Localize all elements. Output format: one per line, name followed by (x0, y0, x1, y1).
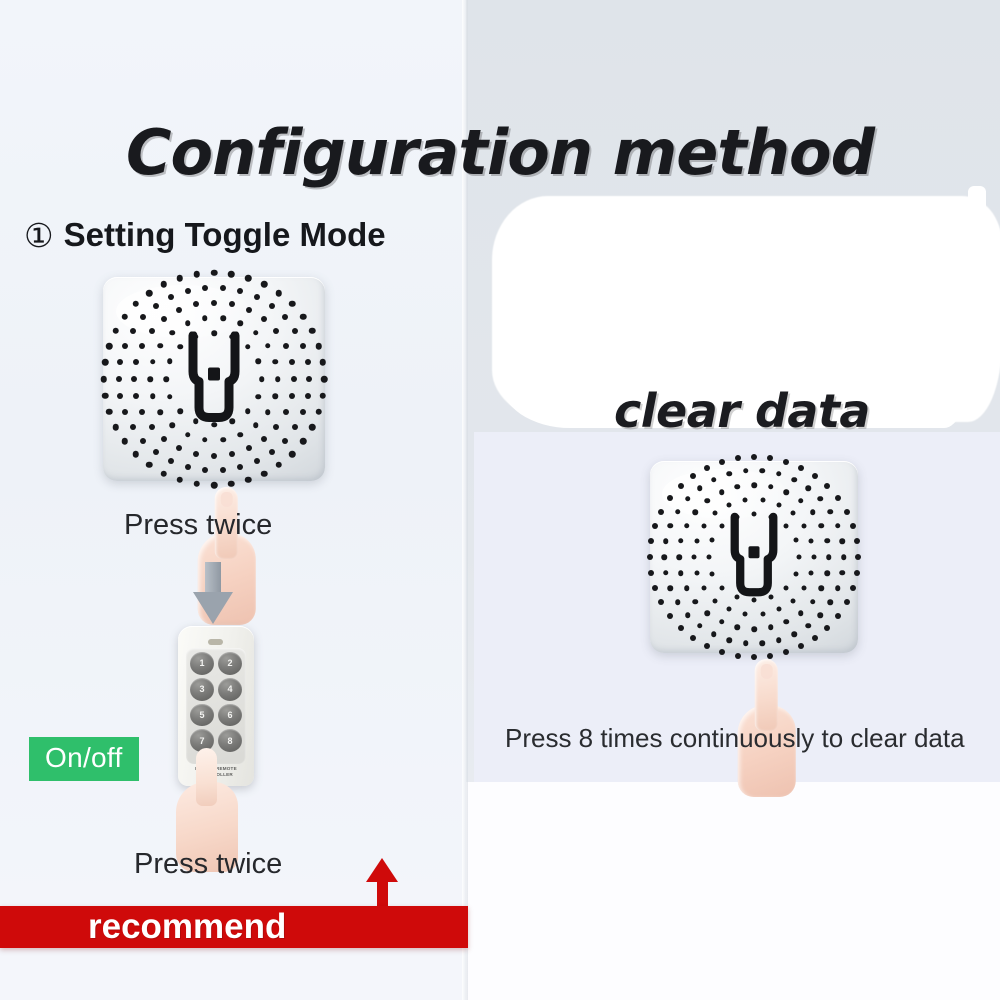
switch-perforation-dot (697, 485, 703, 491)
switch-perforation-dot (776, 502, 781, 507)
switch-perforation-dot (648, 570, 654, 576)
switch-perforation-dot (228, 481, 235, 488)
remote-key-5[interactable]: 5 (190, 704, 214, 727)
switch-perforation-dot (751, 654, 757, 660)
switch-perforation-dot (130, 328, 136, 334)
switch-perforation-dot (272, 393, 278, 399)
switch-perforation-dot (153, 303, 159, 309)
switch-perforation-dot (146, 462, 153, 469)
switch-perforation-dot (177, 477, 184, 484)
switch-perforation-dot (798, 611, 804, 617)
switch-perforation-dot (828, 509, 834, 515)
switch-perforation-dot (743, 612, 748, 617)
switch-perforation-dot (760, 640, 766, 646)
switch-perforation-dot (710, 571, 715, 576)
switch-perforation-dot (305, 359, 311, 365)
switch-perforation-dot (811, 555, 816, 560)
switch-perforation-dot (760, 497, 765, 502)
switch-perforation-dot (854, 538, 860, 544)
switch-perforation-dot (170, 423, 176, 429)
switch-perforation-dot (121, 438, 128, 445)
switch-perforation-dot (102, 359, 109, 366)
switch-perforation-dot (158, 409, 164, 415)
switch-perforation-dot (844, 599, 850, 605)
arrow-up-icon (366, 858, 398, 908)
switch-perforation-dot (692, 555, 697, 560)
switch-perforation-dot (694, 538, 699, 543)
switch-perforation-dot (122, 343, 128, 349)
switch-perforation-dot (675, 509, 681, 515)
switch-perforation-dot (658, 509, 664, 515)
switch-perforation-dot (701, 586, 706, 591)
switch-perforation-dot (841, 554, 847, 560)
switch-perforation-dot (220, 285, 226, 291)
switch-perforation-dot (305, 393, 311, 399)
switch-perforation-dot (273, 424, 279, 430)
switch-perforation-dot (130, 424, 136, 430)
switch-perforation-dot (149, 328, 155, 334)
switch-perforation-dot (840, 570, 846, 576)
switch-perforation-dot (684, 585, 690, 591)
switch-perforation-dot (824, 483, 830, 489)
switch-perforation-dot (265, 409, 271, 415)
switch-perforation-dot (824, 570, 830, 576)
switch-perforation-dot (211, 453, 217, 459)
switch-perforation-dot (719, 489, 725, 495)
remote-key-grid: 1 2 3 4 5 6 7 8 (190, 652, 242, 752)
switch-perforation-dot (220, 316, 226, 322)
switch-perforation-dot (106, 409, 113, 416)
switch-perforation-dot (185, 464, 191, 470)
switch-perforation-dot (685, 612, 691, 618)
switch-perforation-dot (719, 619, 725, 625)
switch-perforation-dot (652, 523, 658, 529)
switch-perforation-dot (272, 359, 278, 365)
switch-perforation-dot (259, 376, 265, 382)
hand-index-finger (196, 748, 217, 806)
switch-perforation-dot (802, 523, 807, 528)
switch-perforation-dot (289, 301, 296, 308)
switch-perforation-dot (743, 497, 748, 502)
arrow-down-icon (193, 562, 233, 624)
switch-perforation-dot (809, 571, 814, 576)
switch-perforation-dot (211, 300, 217, 306)
switch-perforation-dot (710, 538, 715, 543)
switch-perforation-dot (648, 538, 654, 544)
switch-perforation-dot (802, 586, 807, 591)
remote-key-1[interactable]: 1 (190, 652, 214, 675)
switch-perforation-dot (667, 585, 673, 591)
switch-perforation-dot (309, 328, 316, 335)
switch-perforation-dot (684, 523, 690, 529)
switch-perforation-dot (246, 307, 252, 313)
switch-perforation-dot (229, 451, 235, 457)
switch-perforation-dot (193, 451, 199, 457)
switch-perforation-dot (269, 303, 275, 309)
switch-perforation-dot (167, 359, 173, 365)
switch-perforation-dot (652, 585, 658, 591)
switch-perforation-dot (150, 393, 156, 399)
switch-perforation-dot (783, 459, 789, 465)
switch-perforation-dot (658, 599, 664, 605)
switch-perforation-dot (237, 288, 243, 294)
switch-perforation-dot (735, 624, 741, 630)
switch-perforation-dot (743, 640, 749, 646)
switch-perforation-dot (850, 585, 856, 591)
switch-perforation-dot (791, 598, 796, 603)
switch-perforation-dot (667, 495, 673, 501)
hand-fingernail (761, 664, 773, 679)
switch-perforation-dot (161, 281, 168, 288)
switch-perforation-dot (220, 467, 226, 473)
switch-perforation-dot (228, 271, 235, 278)
switch-perforation-dot (321, 376, 328, 383)
switch-perforation-dot (693, 509, 699, 515)
switch-perforation-dot (707, 555, 712, 560)
switch-perforation-dot (796, 555, 801, 560)
switch-perforation-dot (705, 498, 711, 504)
switch-perforation-dot (309, 424, 316, 431)
switch-perforation-dot (316, 409, 323, 416)
switch-perforation-dot (158, 343, 164, 349)
switch-perforation-dot (791, 477, 797, 483)
switch-perforation-dot (784, 619, 790, 625)
switch-perforation-dot (283, 409, 289, 415)
switch-perforation-dot (229, 301, 235, 307)
switch-perforation-dot (283, 343, 289, 349)
switch-perforation-dot (854, 570, 860, 576)
switch-perforation-dot (678, 625, 684, 631)
switch-perforation-dot (798, 465, 804, 471)
switch-perforation-dot (261, 316, 267, 322)
switch-perforation-dot (694, 571, 699, 576)
remote-led-indicator (208, 639, 223, 645)
switch-perforation-dot (776, 637, 782, 643)
switch-perforation-dot (719, 649, 725, 655)
switch-perforation-dot (185, 432, 191, 438)
switch-perforation-dot (705, 611, 711, 617)
switch-perforation-dot (819, 585, 825, 591)
switch-perforation-dot (663, 570, 669, 576)
switch-perforation-dot (768, 484, 774, 490)
switch-perforation-dot (276, 290, 283, 297)
switch-perforation-dot (768, 624, 774, 630)
switch-perforation-dot (133, 393, 139, 399)
switch-perforation-dot (798, 498, 804, 504)
switch-perforation-dot (100, 376, 107, 383)
switch-perforation-dot (282, 314, 288, 320)
page-title: Configuration method (0, 116, 1000, 189)
remote-key-2[interactable]: 2 (218, 652, 242, 675)
switch-perforation-dot (202, 467, 208, 473)
switch-perforation-dot (161, 470, 168, 477)
switch-perforation-dot (291, 376, 297, 382)
remote-key-3[interactable]: 3 (190, 678, 214, 701)
switch-perforation-dot (751, 482, 757, 488)
switch-perforation-dot (824, 625, 830, 631)
switch-perforation-dot (112, 328, 119, 335)
switch-perforation-dot (140, 438, 146, 444)
switch-perforation-dot (320, 359, 327, 366)
switch-perforation-dot (712, 511, 717, 516)
switch-perforation-dot (261, 470, 268, 477)
switch-perforation-dot (245, 477, 252, 484)
switch-perforation-dot (850, 523, 856, 529)
switch-perforation-dot (149, 424, 155, 430)
switch-perforation-dot (168, 458, 174, 464)
switch-perforation-dot (153, 449, 159, 455)
switch-perforation-dot (727, 471, 733, 477)
switch-perforation-dot (261, 436, 267, 442)
switch-perforation-dot (300, 438, 307, 445)
switch-perforation-dot (245, 275, 252, 282)
switch-perforation-dot (133, 301, 140, 308)
caption-clear-data: Press 8 times continuously to clear data (505, 723, 965, 754)
switch-perforation-dot (282, 438, 288, 444)
switch-perforation-dot (116, 376, 122, 382)
switch-perforation-dot (320, 392, 327, 399)
switch-perforation-dot (812, 473, 818, 479)
switch-perforation-dot (253, 423, 259, 429)
switch-perforation-dot (161, 436, 167, 442)
switch-perforation-dot (122, 409, 128, 415)
switch-perforation-dot (306, 376, 312, 382)
switch-perforation-dot (148, 376, 154, 382)
switch-perforation-dot (697, 623, 703, 629)
switch-perforation-dot (711, 477, 717, 483)
infographic-canvas: Configuration method ① Setting Toggle Mo… (0, 0, 1000, 1000)
switch-perforation-dot (238, 432, 244, 438)
switch-perforation-dot (727, 607, 732, 612)
switch-perforation-dot (793, 571, 798, 576)
switch-perforation-dot (791, 511, 796, 516)
switch-perforation-dot (751, 454, 757, 460)
switch-perforation-dot (106, 343, 113, 350)
step-heading-label: Setting Toggle Mode (64, 216, 386, 254)
switch-perforation-dot (202, 285, 208, 291)
switch-perforation-dot (735, 653, 741, 659)
switch-perforation-dot (193, 301, 199, 307)
switch-perforation-dot (300, 409, 306, 415)
switch-perforation-dot (675, 600, 681, 606)
hand-pointing-icon-remote (176, 748, 238, 863)
switch-perforation-dot (663, 538, 669, 544)
switch-perforation-dot (185, 288, 191, 294)
caption-press-twice-remote: Press twice (134, 848, 282, 881)
switch-perforation-dot (289, 359, 295, 365)
switch-perforation-dot (798, 643, 804, 649)
onoff-badge: On/off (29, 737, 139, 781)
switch-perforation-dot (265, 343, 271, 349)
switch-perforation-dot (678, 570, 684, 576)
wall-switch-right[interactable] (650, 461, 858, 653)
switch-perforation-dot (211, 482, 218, 489)
switch-perforation-dot (667, 523, 673, 529)
switch-perforation-dot (170, 330, 176, 336)
switch-perforation-dot (193, 481, 200, 488)
switch-perforation-dot (202, 316, 208, 322)
switch-perforation-dot (805, 485, 811, 491)
switch-perforation-dot (275, 376, 281, 382)
switch-perforation-dot (727, 502, 732, 507)
switch-perforation-dot (211, 270, 218, 277)
switch-perforation-dot (760, 468, 766, 474)
switch-perforation-dot (693, 599, 699, 605)
hand-fingernail (221, 492, 233, 507)
switch-perforation-dot (289, 451, 296, 458)
switch-perforation-dot (254, 294, 260, 300)
switch-perforation-dot (678, 483, 684, 489)
switch-perforation-dot (164, 376, 170, 382)
switch-perforation-dot (140, 314, 146, 320)
switch-perforation-dot (685, 496, 691, 502)
switch-perforation-dot (255, 394, 261, 400)
switch-perforation-dot (735, 484, 741, 490)
switch-perforation-dot (767, 653, 773, 659)
switch-perforation-dot (840, 538, 846, 544)
switch-perforation-dot (176, 307, 182, 313)
switch-perforation-dot (300, 343, 306, 349)
step-heading-left: ① Setting Toggle Mode (24, 216, 386, 254)
white-paint-edge (968, 186, 986, 242)
switch-perforation-dot (661, 554, 667, 560)
switch-perforation-dot (712, 598, 717, 603)
switch-perforation-dot (276, 462, 283, 469)
switch-perforation-dot (810, 599, 816, 605)
plug-icon (720, 512, 788, 605)
switch-perforation-dot (237, 464, 243, 470)
switch-perforation-dot (809, 538, 814, 543)
switch-perforation-dot (253, 330, 259, 336)
arrow-shaft (205, 562, 221, 596)
caption-press-twice-switch: Press twice (124, 509, 272, 542)
section-heading-clear-data: clear data (614, 384, 870, 438)
switch-perforation-dot (300, 313, 307, 320)
switch-perforation-dot (743, 468, 749, 474)
switch-perforation-dot (818, 496, 824, 502)
switch-perforation-dot (269, 449, 275, 455)
switch-perforation-dot (255, 359, 261, 365)
switch-perforation-dot (767, 455, 773, 461)
switch-perforation-dot (751, 626, 757, 632)
switch-perforation-dot (292, 328, 298, 334)
switch-perforation-dot (678, 538, 684, 544)
switch-perforation-dot (828, 600, 834, 606)
switch-perforation-dot (139, 409, 145, 415)
switch-perforation-dot (121, 313, 128, 320)
switch-perforation-dot (167, 394, 173, 400)
switch-perforation-dot (810, 509, 816, 515)
switch-perforation-dot (168, 294, 174, 300)
switch-perforation-dot (102, 392, 109, 399)
switch-perforation-dot (783, 649, 789, 655)
switch-perforation-dot (819, 523, 825, 529)
switch-perforation-dot (112, 424, 119, 431)
wall-switch-left[interactable] (103, 277, 325, 481)
switch-perforation-dot (776, 471, 782, 477)
switch-perforation-dot (254, 458, 260, 464)
arrow-shaft (377, 876, 388, 908)
switch-perforation-dot (735, 455, 741, 461)
switch-perforation-dot (150, 359, 156, 365)
switch-perforation-dot (676, 554, 682, 560)
switch-perforation-dot (146, 290, 153, 297)
switch-perforation-dot (812, 635, 818, 641)
switch-perforation-dot (289, 393, 295, 399)
switch-perforation-dot (835, 585, 841, 591)
switch-perforation-dot (727, 637, 733, 643)
switch-perforation-dot (131, 376, 137, 382)
switch-perforation-dot (117, 393, 123, 399)
switch-perforation-dot (177, 275, 184, 282)
switch-perforation-dot (818, 612, 824, 618)
remote-key-4[interactable]: 4 (218, 678, 242, 701)
switch-perforation-dot (133, 359, 139, 365)
remote-keypad: 1 2 3 4 5 6 7 8 (186, 648, 246, 764)
switch-perforation-dot (791, 632, 797, 638)
switch-perforation-dot (704, 643, 710, 649)
switch-perforation-dot (776, 607, 781, 612)
switch-perforation-dot (133, 451, 140, 458)
switch-perforation-dot (161, 316, 167, 322)
switch-perforation-dot (711, 632, 717, 638)
switch-perforation-dot (238, 321, 244, 327)
switch-perforation-dot (139, 343, 145, 349)
switch-perforation-dot (793, 538, 798, 543)
switch-perforation-dot (704, 465, 710, 471)
switch-perforation-dot (273, 328, 279, 334)
background-right-lower (466, 782, 1000, 1000)
switch-perforation-dot (667, 613, 673, 619)
switch-perforation-dot (701, 523, 706, 528)
switch-perforation-dot (261, 281, 268, 288)
switch-perforation-dot (220, 437, 226, 443)
switch-perforation-dot (246, 445, 252, 451)
switch-perforation-dot (647, 554, 653, 560)
remote-key-6[interactable]: 6 (218, 704, 242, 727)
switch-perforation-dot (835, 613, 841, 619)
switch-perforation-dot (316, 343, 323, 350)
switch-perforation-dot (117, 359, 123, 365)
switch-perforation-dot (202, 437, 208, 443)
switch-perforation-dot (855, 554, 861, 560)
switch-perforation-dot (690, 635, 696, 641)
switch-perforation-dot (292, 424, 298, 430)
switch-perforation-dot (835, 495, 841, 501)
switch-perforation-dot (690, 473, 696, 479)
recommend-banner-label: recommend (88, 906, 408, 948)
switch-perforation-dot (844, 509, 850, 515)
switch-perforation-dot (824, 538, 830, 544)
switch-perforation-dot (193, 271, 200, 278)
plug-icon (177, 331, 251, 430)
switch-perforation-dot (805, 623, 811, 629)
switch-perforation-dot (185, 321, 191, 327)
switch-perforation-dot (176, 445, 182, 451)
arrow-head (193, 592, 233, 624)
switch-perforation-dot (835, 523, 841, 529)
step-number-badge: ① (24, 219, 54, 252)
switch-perforation-dot (784, 489, 790, 495)
switch-perforation-dot (719, 459, 725, 465)
switch-perforation-dot (760, 612, 765, 617)
switch-perforation-dot (826, 554, 832, 560)
